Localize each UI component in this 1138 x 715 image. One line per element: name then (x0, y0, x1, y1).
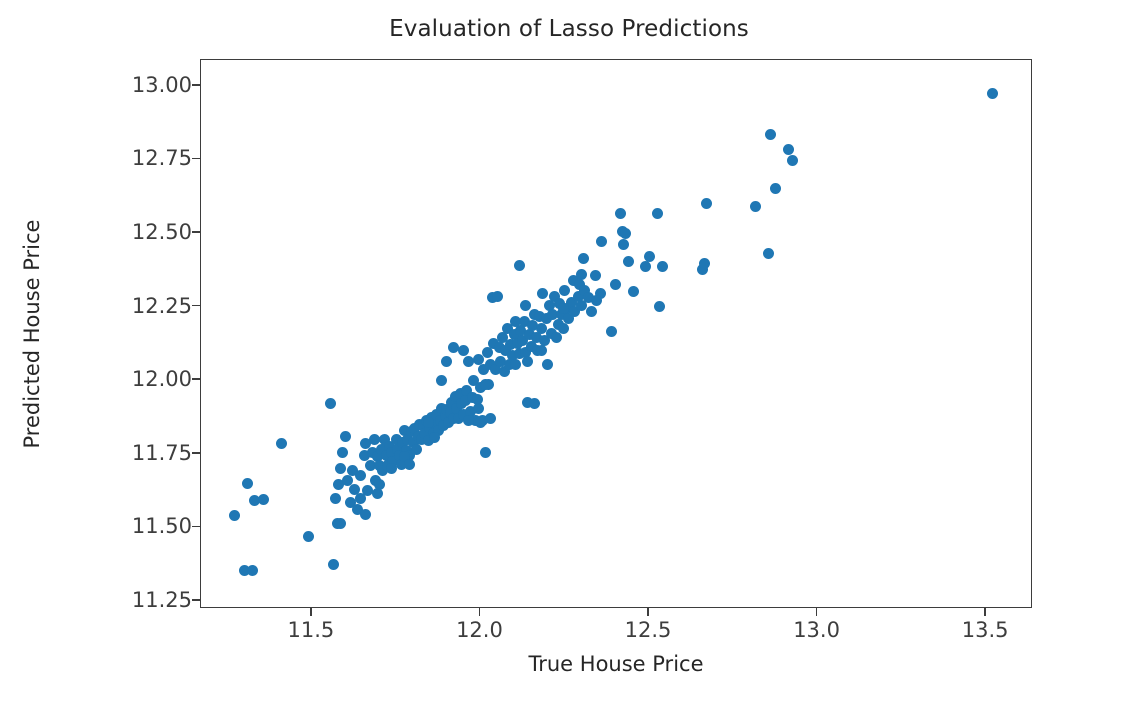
y-tick-label: 11.50 (52, 514, 192, 538)
y-tick-label: 11.75 (52, 441, 192, 465)
scatter-point (558, 323, 569, 334)
scatter-point (229, 510, 240, 521)
scatter-point (763, 248, 774, 259)
scatter-point (652, 208, 663, 219)
scatter-point (536, 345, 547, 356)
scatter-point (441, 356, 452, 367)
scatter-point (590, 270, 601, 281)
scatter-point (537, 288, 548, 299)
scatter-point (473, 403, 484, 414)
scatter-point (411, 444, 422, 455)
x-tick-mark (479, 608, 481, 616)
scatter-point (559, 285, 570, 296)
y-tick-label: 11.25 (52, 588, 192, 612)
scatter-point (551, 332, 562, 343)
scatter-point (618, 239, 629, 250)
scatter-point (429, 432, 440, 443)
scatter-point (620, 228, 631, 239)
scatter-point (699, 258, 710, 269)
scatter-point (360, 509, 371, 520)
scatter-point (640, 261, 651, 272)
scatter-point (492, 291, 503, 302)
x-tick-label: 13.5 (962, 618, 1009, 642)
scatter-point (325, 398, 336, 409)
scatter-point (404, 459, 415, 470)
scatter-point (514, 260, 525, 271)
scatter-point (485, 413, 496, 424)
scatter-point (458, 345, 469, 356)
scatter-point (520, 300, 531, 311)
y-tick-mark (192, 158, 200, 160)
x-tick-label: 13.0 (793, 618, 840, 642)
y-tick-mark (192, 84, 200, 86)
scatter-point (783, 144, 794, 155)
x-tick-mark (816, 608, 818, 616)
scatter-point (335, 463, 346, 474)
y-tick-label: 12.50 (52, 220, 192, 244)
scatter-point (542, 359, 553, 370)
y-axis-label: Predicted House Price (18, 59, 46, 608)
x-tick-mark (984, 608, 986, 616)
scatter-point (536, 323, 547, 334)
x-axis-label: True House Price (200, 652, 1032, 676)
scatter-point (578, 253, 589, 264)
scatter-point (335, 518, 346, 529)
scatter-point (765, 129, 776, 140)
scatter-point (657, 261, 668, 272)
y-tick-label: 12.00 (52, 367, 192, 391)
y-tick-mark (192, 599, 200, 601)
scatter-point (654, 301, 665, 312)
scatter-point (242, 478, 253, 489)
scatter-point (987, 88, 998, 99)
scatter-point (330, 493, 341, 504)
scatter-point (576, 269, 587, 280)
x-tick-mark (310, 608, 312, 616)
plot-area (200, 59, 1032, 608)
figure-canvas: Evaluation of Lasso Predictions Predicte… (0, 0, 1138, 715)
y-tick-mark (192, 231, 200, 233)
scatter-point (510, 359, 521, 370)
scatter-point (644, 251, 655, 262)
scatter-point (386, 463, 397, 474)
x-tick-label: 11.5 (288, 618, 335, 642)
scatter-point (340, 431, 351, 442)
y-tick-label: 12.75 (52, 146, 192, 170)
scatter-point (355, 470, 366, 481)
scatter-point (628, 286, 639, 297)
y-tick-mark (192, 305, 200, 307)
scatter-point (558, 303, 569, 314)
scatter-point (610, 279, 621, 290)
scatter-point (328, 559, 339, 570)
y-tick-mark (192, 452, 200, 454)
scatter-point (586, 306, 597, 317)
x-tick-label: 12.0 (456, 618, 503, 642)
scatter-point (615, 208, 626, 219)
scatter-point (770, 183, 781, 194)
scatter-point (701, 198, 712, 209)
y-tick-mark (192, 526, 200, 528)
scatter-point (591, 295, 602, 306)
scatter-point (463, 415, 474, 426)
scatter-point (623, 256, 634, 267)
scatter-point (276, 438, 287, 449)
scatter-point (522, 356, 533, 367)
y-axis-label-text: Predicted House Price (20, 219, 44, 448)
scatter-point (355, 493, 366, 504)
scatter-point (596, 236, 607, 247)
x-tick-mark (647, 608, 649, 616)
scatter-point (337, 447, 348, 458)
y-tick-label: 13.00 (52, 73, 192, 97)
y-tick-mark (192, 378, 200, 380)
x-tick-label: 12.5 (625, 618, 672, 642)
scatter-point (787, 155, 798, 166)
scatter-point (436, 375, 447, 386)
scatter-point (258, 494, 269, 505)
scatter-point (374, 479, 385, 490)
scatter-point (247, 565, 258, 576)
scatter-point (480, 447, 491, 458)
scatter-point (529, 398, 540, 409)
page-title: Evaluation of Lasso Predictions (0, 16, 1138, 42)
scatter-point (303, 531, 314, 542)
y-tick-label: 12.25 (52, 294, 192, 318)
scatter-point (606, 326, 617, 337)
scatter-point (750, 201, 761, 212)
